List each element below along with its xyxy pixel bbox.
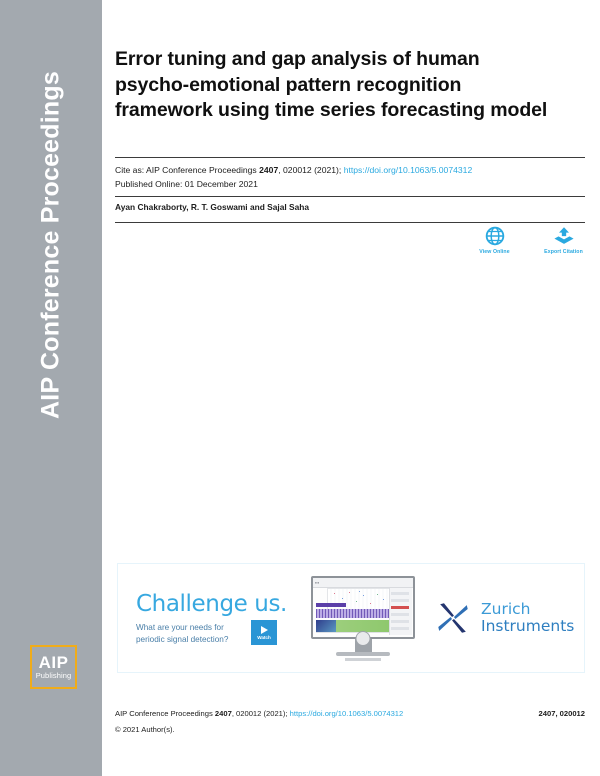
watch-button-label: Watch bbox=[257, 635, 271, 640]
aip-logo-subtitle: Publishing bbox=[36, 671, 72, 680]
zurich-instruments-x-icon bbox=[434, 599, 472, 637]
monitor-stand-knob bbox=[356, 631, 371, 646]
advertiser-brand: Zurich Instruments bbox=[426, 599, 584, 637]
footer-citation-row: AIP Conference Proceedings 2407, 020012 … bbox=[115, 709, 585, 718]
brand-line-1: Zurich bbox=[481, 601, 574, 618]
zurich-instruments-wordmark: Zurich Instruments bbox=[481, 601, 574, 635]
advertisement-banner[interactable]: Challenge us. What are your needs for pe… bbox=[117, 563, 585, 673]
footer-copyright: © 2021 Author(s). bbox=[115, 725, 175, 734]
lower-plot-pane bbox=[316, 632, 390, 639]
published-online-line: Published Online: 01 December 2021 bbox=[115, 178, 585, 192]
software-right-panel bbox=[389, 588, 412, 635]
view-online-label: View Online bbox=[479, 249, 509, 255]
footer-citation: AIP Conference Proceedings 2407, 020012 … bbox=[115, 709, 403, 718]
play-icon bbox=[261, 626, 268, 634]
waveform-small bbox=[316, 603, 346, 607]
export-upload-icon bbox=[553, 226, 575, 246]
divider-under-title bbox=[115, 157, 585, 158]
footer-volume: 2407 bbox=[215, 709, 232, 718]
globe-icon bbox=[485, 226, 505, 246]
waveform-strip bbox=[316, 609, 390, 618]
footer-doi-link[interactable]: https://doi.org/10.1063/5.0074312 bbox=[290, 709, 404, 718]
aip-logo-name: AIP bbox=[39, 654, 69, 671]
article-actions: View Online Export Citation bbox=[470, 226, 588, 255]
cite-middle: , 020012 (2021); bbox=[278, 165, 343, 175]
brand-line-2: Instruments bbox=[481, 618, 574, 635]
footer-prefix: AIP Conference Proceedings bbox=[115, 709, 215, 718]
published-label: Published Online: bbox=[115, 179, 185, 189]
monitor-stand-base bbox=[336, 652, 390, 656]
software-menu-dots: ▪▪▪ bbox=[315, 580, 319, 585]
journal-name-vertical: AIP Conference Proceedings bbox=[37, 71, 66, 419]
footer-article-id: 2407, 020012 bbox=[539, 709, 585, 718]
view-online-action[interactable]: View Online bbox=[470, 226, 519, 255]
monitor-shadow bbox=[345, 658, 381, 661]
article-content: Error tuning and gap analysis of human p… bbox=[102, 0, 600, 776]
footer-middle: , 020012 (2021); bbox=[232, 709, 290, 718]
journal-sidebar: AIP Conference Proceedings AIP Publishin… bbox=[0, 0, 102, 776]
export-citation-action[interactable]: Export Citation bbox=[539, 226, 588, 255]
monitor-screen: ▪▪▪ bbox=[311, 576, 415, 639]
software-titlebar bbox=[313, 578, 413, 588]
ad-subtext: What are your needs for periodic signal … bbox=[136, 622, 244, 645]
doi-link[interactable]: https://doi.org/10.1063/5.0074312 bbox=[344, 165, 473, 175]
monitor-illustration: ▪▪▪ bbox=[300, 576, 426, 661]
cite-volume: 2407 bbox=[259, 165, 278, 175]
ad-copy: Challenge us. What are your needs for pe… bbox=[118, 591, 300, 645]
monitor-stand-neck bbox=[355, 639, 372, 652]
aip-publishing-logo: AIP Publishing bbox=[30, 645, 77, 689]
page-title: Error tuning and gap analysis of human p… bbox=[115, 47, 555, 124]
published-date: 01 December 2021 bbox=[185, 179, 258, 189]
ad-subrow: What are your needs for periodic signal … bbox=[136, 620, 300, 645]
cite-as-line: Cite as: AIP Conference Proceedings 2407… bbox=[115, 164, 585, 178]
citation-block: Cite as: AIP Conference Proceedings 2407… bbox=[115, 164, 585, 191]
divider-above-authors bbox=[115, 196, 585, 197]
author-list: Ayan Chakraborty, R. T. Goswami and Saja… bbox=[115, 202, 585, 212]
ad-headline: Challenge us. bbox=[136, 591, 300, 617]
export-citation-label: Export Citation bbox=[544, 249, 583, 255]
cite-prefix: Cite as: AIP Conference Proceedings bbox=[115, 165, 259, 175]
divider-under-authors bbox=[115, 222, 585, 223]
watch-video-button[interactable]: Watch bbox=[251, 620, 277, 645]
